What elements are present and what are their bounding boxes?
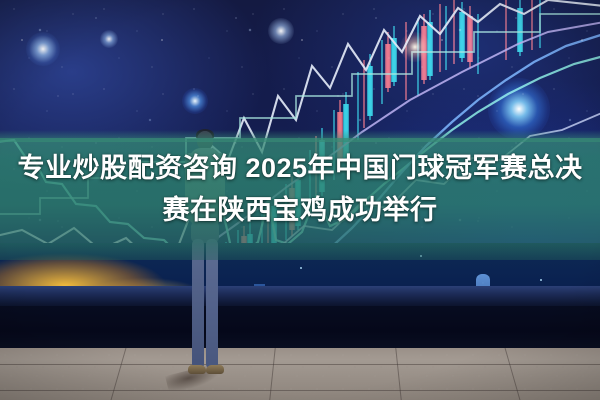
headline-line-1: 专业炒股配资咨询 2025年中国门球冠军赛总决 xyxy=(17,150,582,186)
thumbnail-image: 专业炒股配资咨询 2025年中国门球冠军赛总决 赛在陕西宝鸡成功举行 xyxy=(0,0,600,400)
city-light xyxy=(300,267,302,269)
headline-line-2: 赛在陕西宝鸡成功举行 xyxy=(163,192,438,228)
rooftop-parapet-shadow xyxy=(0,306,600,352)
rooftop-railing xyxy=(0,286,600,308)
person-right-shoe xyxy=(206,365,224,374)
floor-seam xyxy=(505,348,521,400)
city-light xyxy=(540,279,542,281)
person-left-shoe xyxy=(188,365,206,374)
floor-seam xyxy=(269,348,275,400)
floor-seam xyxy=(0,390,600,391)
rooftop-floor xyxy=(0,348,600,400)
floor-seam xyxy=(395,348,401,400)
floor-seam xyxy=(0,364,600,365)
floor-seam xyxy=(111,348,127,400)
headline-text-block: 专业炒股配资咨询 2025年中国门球冠军赛总决 赛在陕西宝鸡成功举行 xyxy=(0,150,600,228)
